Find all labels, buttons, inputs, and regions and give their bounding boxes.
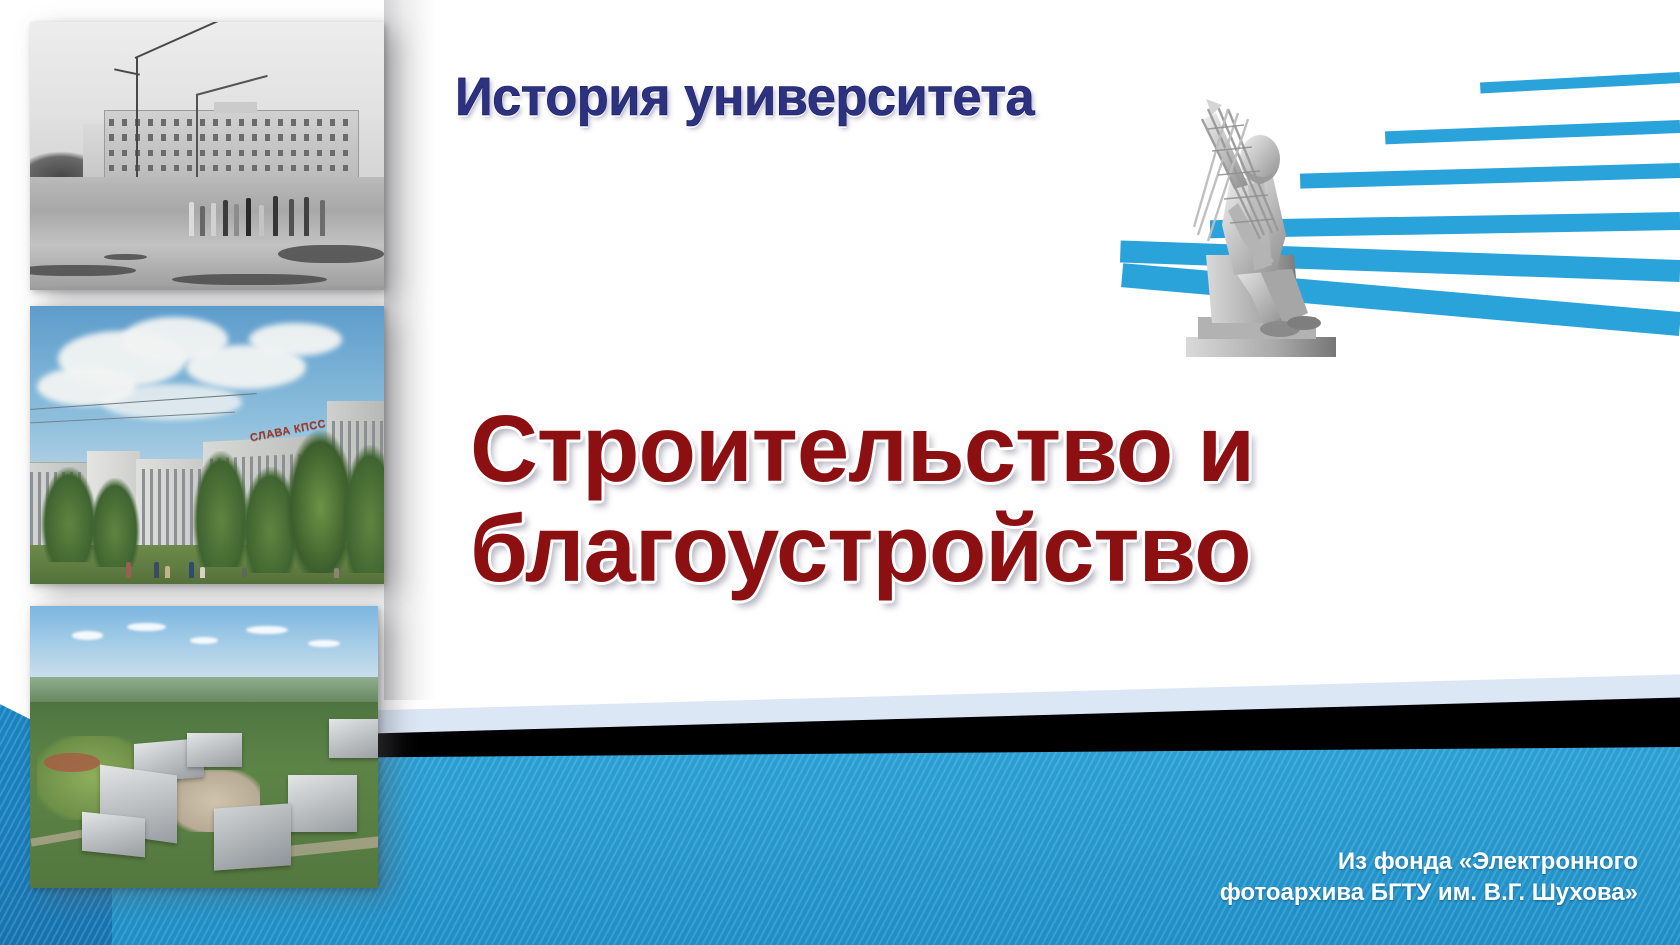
page-title-kicker: История университета — [455, 66, 1034, 128]
aerial-campus-photo[interactable] — [30, 606, 378, 888]
source-credit-line-1: Из фонда «Электронного — [1220, 846, 1638, 878]
construction-photo[interactable] — [30, 22, 384, 290]
photo3-building-6 — [288, 775, 358, 831]
photo3-building-7 — [329, 719, 378, 758]
source-credit: Из фонда «Электронного фотоархива БГТУ и… — [1220, 846, 1638, 909]
soviet-campus-photo[interactable]: СЛАВА КПСС — [30, 306, 384, 584]
fan-stripe-1 — [1480, 72, 1680, 93]
presentation-slide: СЛАВА КПСС — [0, 0, 1680, 945]
photo3-building-5 — [214, 804, 291, 871]
photo1-crane-right — [196, 94, 198, 182]
page-title-line-1: Строительство и — [470, 400, 1401, 500]
photo3-building-2 — [82, 811, 145, 857]
shukhov-monument-icon — [1168, 85, 1358, 360]
photo1-building — [104, 110, 359, 182]
photo-column: СЛАВА КПСС — [0, 0, 420, 945]
photo1-people-group — [186, 183, 342, 237]
page-title-line-2: благоустройство — [470, 500, 1401, 600]
photo3-stadium — [44, 753, 100, 773]
source-credit-line-2: фотоархива БГТУ им. В.Г. Шухова» — [1220, 877, 1638, 909]
page-title: Строительство и благоустройство — [470, 400, 1410, 600]
fan-stripe-2 — [1385, 120, 1680, 144]
photo1-crane-left — [136, 57, 138, 183]
photo3-building-4 — [187, 733, 243, 767]
photo1-roof-box — [214, 102, 256, 113]
